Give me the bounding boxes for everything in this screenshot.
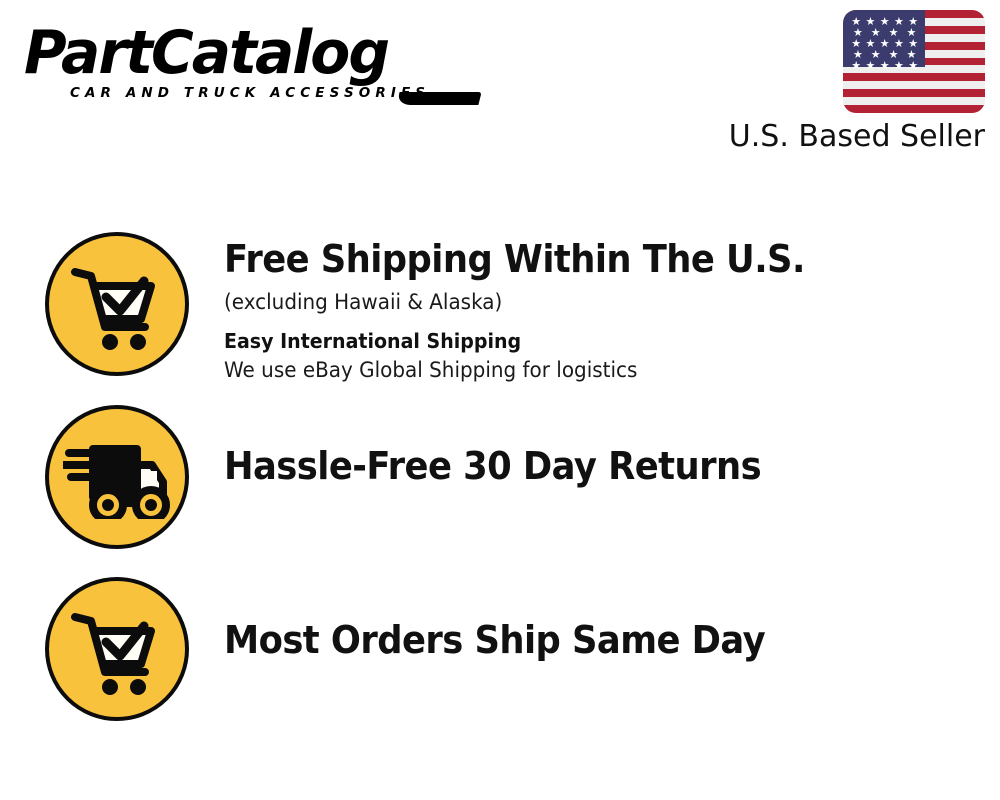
- feature-text: Hassle-Free 30 Day Returns: [189, 405, 1000, 489]
- feature-row: Hassle-Free 30 Day Returns: [0, 405, 1000, 577]
- promo-banner: PartCatalog CAR AND TRUCK ACCESSORIES ★★…: [0, 0, 1000, 800]
- feature-title: Hassle-Free 30 Day Returns: [224, 443, 946, 489]
- feature-row: Most Orders Ship Same Day: [0, 577, 1000, 737]
- banner-header: PartCatalog CAR AND TRUCK ACCESSORIES ★★…: [0, 0, 1000, 170]
- flag-stars: ★★★★★ ★★★★ ★★★★★ ★★★★ ★★★★★: [843, 10, 925, 67]
- us-flag-icon: ★★★★★ ★★★★ ★★★★★ ★★★★ ★★★★★: [843, 10, 985, 113]
- feature-title: Free Shipping Within The U.S.: [224, 236, 946, 282]
- us-based-seller-label: U.S. Based Seller: [725, 120, 985, 154]
- feature-text: Free Shipping Within The U.S. (excluding…: [189, 232, 1000, 385]
- delivery-truck-icon: [45, 405, 189, 549]
- brand-wordmark: PartCatalog: [24, 22, 480, 84]
- feature-title: Most Orders Ship Same Day: [224, 617, 946, 663]
- logo-swoosh-icon: [396, 92, 481, 105]
- feature-text: Most Orders Ship Same Day: [189, 577, 1000, 663]
- feature-note: (excluding Hawaii & Alaska): [224, 287, 961, 317]
- feature-row: Free Shipping Within The U.S. (excluding…: [0, 232, 1000, 405]
- feature-sub-title: Easy International Shipping: [224, 328, 961, 355]
- shopping-cart-check-icon: [45, 232, 189, 376]
- star-row: ★★★★★: [849, 61, 920, 72]
- flag-canton: ★★★★★ ★★★★ ★★★★★ ★★★★ ★★★★★: [843, 10, 925, 67]
- brand-logo: PartCatalog CAR AND TRUCK ACCESSORIES: [24, 22, 494, 101]
- us-based-seller-block: ★★★★★ ★★★★ ★★★★★ ★★★★ ★★★★★ U.S. Based S…: [725, 10, 985, 154]
- feature-sub-note: We use eBay Global Shipping for logistic…: [224, 356, 961, 385]
- feature-list: Free Shipping Within The U.S. (excluding…: [0, 232, 1000, 737]
- shopping-cart-check-icon: [45, 577, 189, 721]
